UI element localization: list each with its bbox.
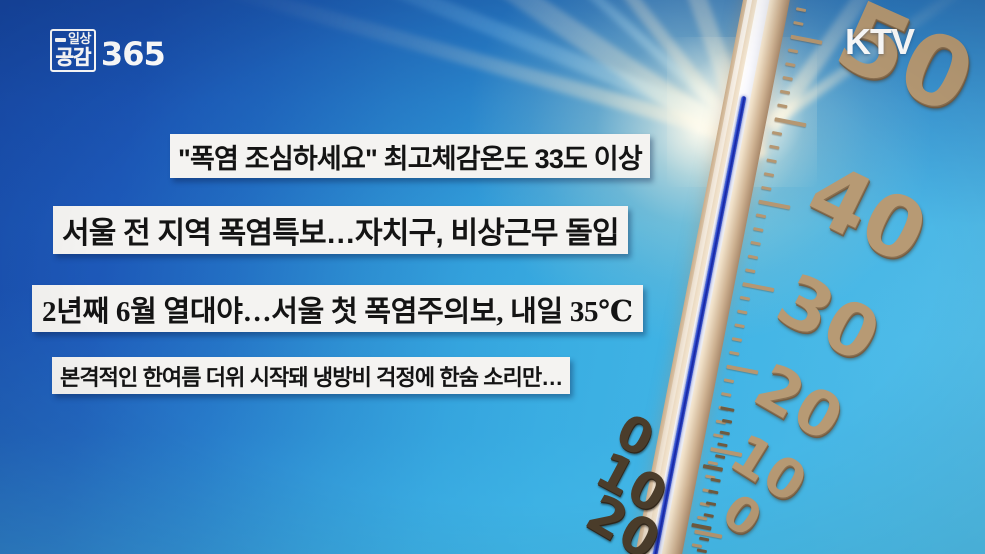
- headline-text-1: "폭염 조심하세요" 최고체감온도 33도 이상: [178, 137, 642, 176]
- headline-text-2: 서울 전 지역 폭염특보…자치구, 비상근무 돌입: [62, 208, 619, 252]
- headline-text-4: 본격적인 한여름 더위 시작돼 냉방비 걱정에 한숨 소리만…: [60, 360, 562, 392]
- channel-watermark: KTV: [845, 24, 914, 60]
- headline-band-3: 2년째 6월 열대야…서울 첫 폭염주의보, 내일 35℃: [32, 285, 643, 332]
- program-logo: 일상 공감 365: [50, 29, 165, 72]
- broadcast-screen: 50 40 30 20 10 0 0 10 20 일상 공감 365 KTV "…: [0, 0, 985, 554]
- program-logo-suffix: 365: [101, 38, 165, 70]
- headline-text-3: 2년째 6월 열대야…서울 첫 폭염주의보, 내일 35℃: [42, 288, 633, 330]
- program-logo-badge: 일상 공감: [50, 29, 96, 72]
- headline-band-4: 본격적인 한여름 더위 시작돼 냉방비 걱정에 한숨 소리만…: [52, 357, 570, 394]
- headline-band-2: 서울 전 지역 폭염특보…자치구, 비상근무 돌입: [53, 206, 628, 254]
- program-logo-line-bottom: 공감: [56, 47, 91, 67]
- dash-icon: [55, 38, 66, 42]
- headline-band-1: "폭염 조심하세요" 최고체감온도 33도 이상: [170, 134, 650, 178]
